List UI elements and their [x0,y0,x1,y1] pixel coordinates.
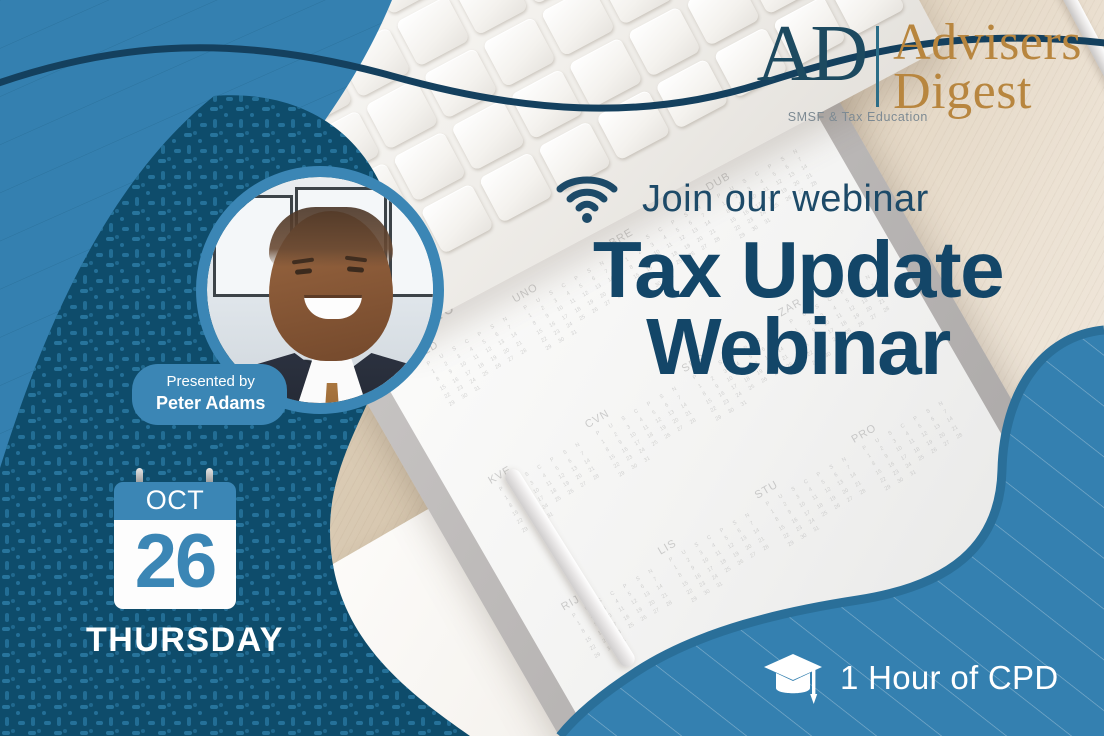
presenter-hair [269,207,393,267]
cpd-badge: 1 Hour of CPD [762,650,1058,706]
logo-word-line1: Advisers [893,18,1082,67]
presented-by-badge: Presented by Peter Adams [132,364,287,425]
window-pane [389,193,433,297]
logo-wordmark: Advisers Digest [893,18,1082,117]
logo-divider [876,26,879,107]
webinar-promo-poster: 2016 LEDPUSCPSN1234567891011121314151617… [0,0,1104,736]
cpd-label: 1 Hour of CPD [840,659,1058,697]
hero-eyebrow: Join our webinar [642,178,929,221]
graduation-cap-icon [762,650,824,706]
presented-by-label: Presented by [156,373,265,392]
event-date-badge: OCT 26 THURSDAY [114,482,236,660]
calendar-month: OCT [114,482,236,520]
hero-title-line2: Webinar [548,309,1048,386]
hero-title: Tax Update Webinar [548,232,1048,386]
hero-title-line1: Tax Update [593,225,1003,314]
brand-logo[interactable]: AD Advisers Digest [757,18,1082,117]
logo-tagline: SMSF & Tax Education [788,110,928,124]
wifi-icon [556,172,618,224]
logo-monogram: AD [757,18,877,92]
presenter-name: Peter Adams [156,392,265,415]
calendar-weekday: THURSDAY [86,621,236,660]
calendar-day: 26 [114,520,236,609]
